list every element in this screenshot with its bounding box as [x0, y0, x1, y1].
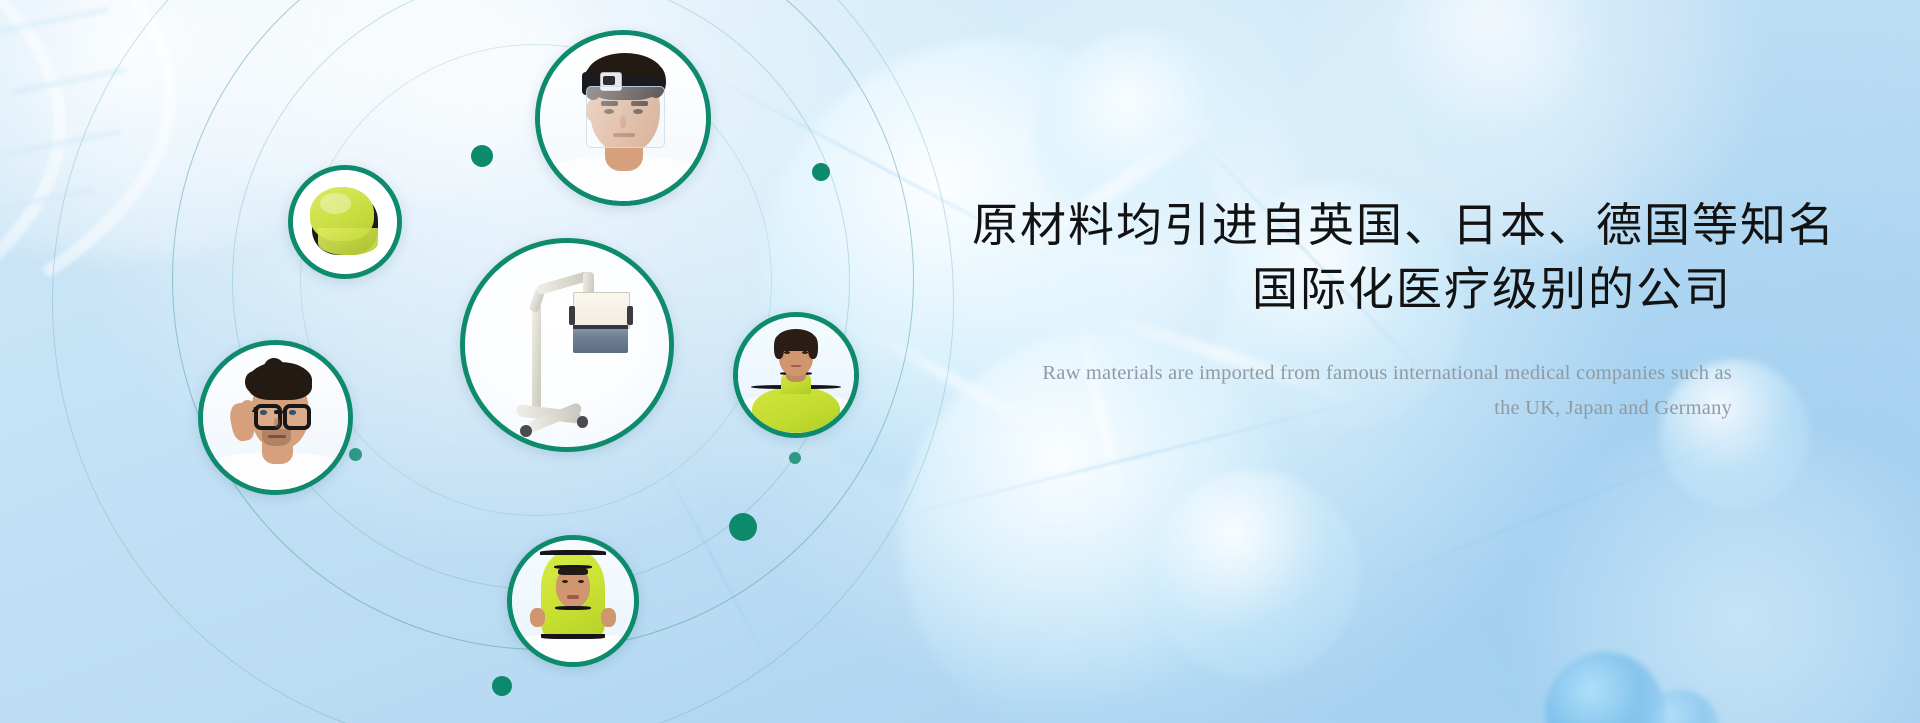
bubble-lead-hood-woman[interactable] [507, 535, 639, 667]
molecule-sphere [1385, 0, 1645, 200]
headline-line-1: 原材料均引进自英国、日本、德国等知名 [972, 196, 1732, 256]
molecule-sphere-accent [1545, 652, 1665, 723]
bubble-xray-shield-stand[interactable] [460, 238, 674, 452]
molecule-sphere [1150, 470, 1360, 680]
subtitle-block: Raw materials are imported from famous i… [972, 356, 1732, 428]
orbit-node-dot [729, 513, 757, 541]
light-streak [1330, 428, 1757, 602]
subtitle-line-2: the UK, Japan and Germany [1494, 397, 1732, 419]
hero-banner: 原材料均引进自英国、日本、德国等知名 国际化医疗级别的公司 Raw materi… [0, 0, 1920, 723]
orbit-node-dot [812, 163, 830, 181]
bubble-thyroid-collar-woman[interactable] [733, 312, 859, 438]
banner-copy-block: 原材料均引进自英国、日本、德国等知名 国际化医疗级别的公司 Raw materi… [972, 196, 1732, 427]
orbit-node-dot [349, 448, 362, 461]
headline-line-2: 国际化医疗级别的公司 [972, 260, 1732, 320]
orbit-node-dot [789, 452, 801, 464]
cloud-wisp [1480, 430, 1920, 723]
bubble-glasses-man[interactable] [198, 340, 353, 495]
subtitle-line-1: Raw materials are imported from famous i… [1042, 362, 1732, 384]
bubble-lead-cap[interactable] [288, 165, 402, 279]
orbit-node-dot [492, 676, 512, 696]
bubble-headlamp-man[interactable] [535, 30, 711, 206]
orbit-node-dot [471, 145, 493, 167]
molecule-sphere-accent [1640, 690, 1720, 723]
